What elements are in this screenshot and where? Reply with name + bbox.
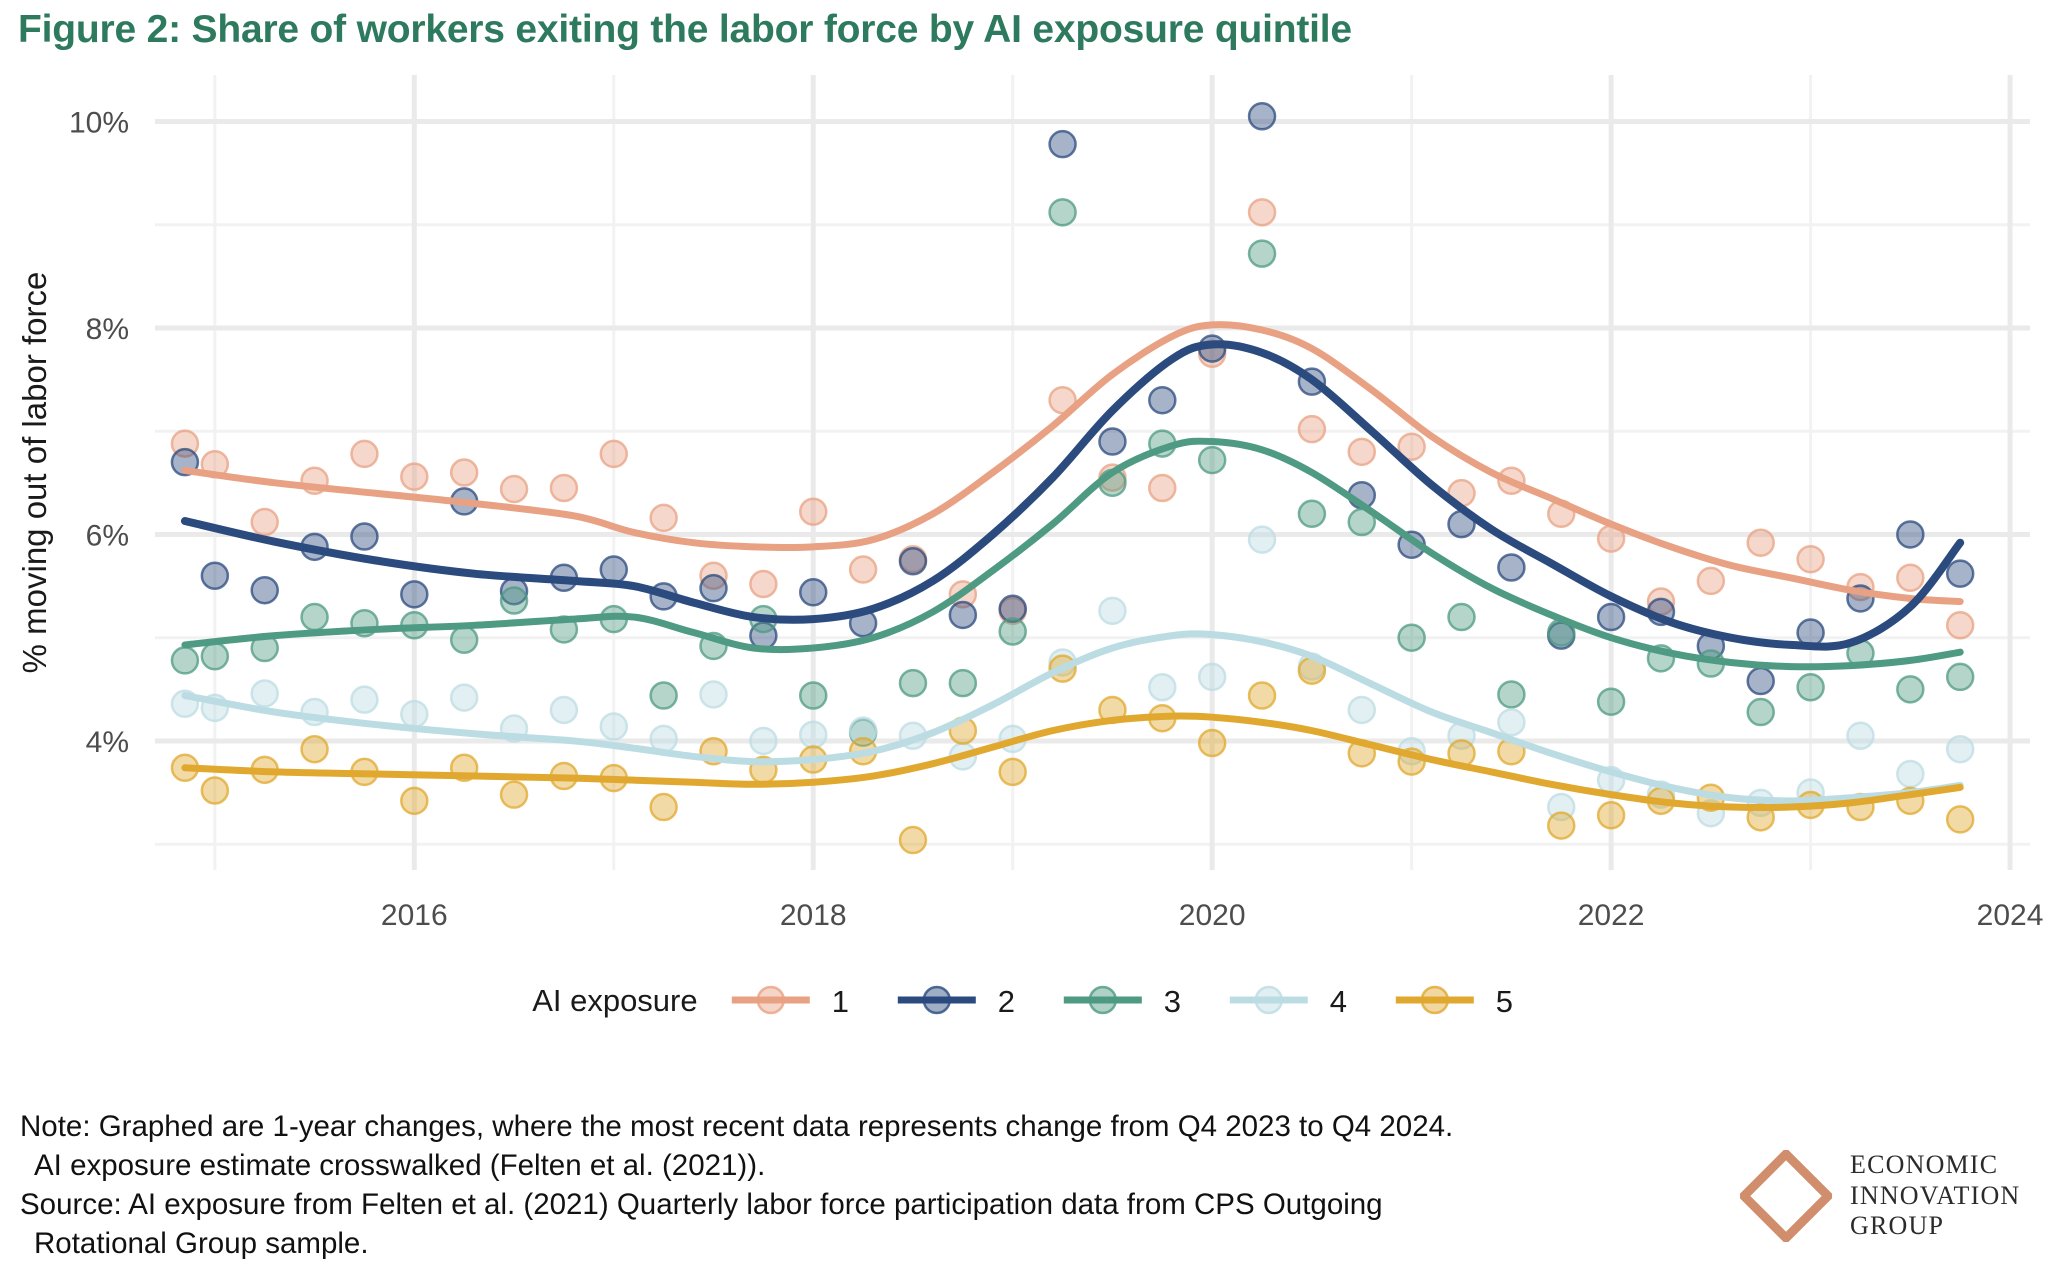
chart-svg: 4%6%8%10%20162018202020222024% moving ou…	[0, 0, 2048, 1100]
data-point	[1249, 103, 1275, 129]
data-point	[1897, 521, 1923, 547]
note-line-2: AI exposure estimate crosswalked (Felten…	[20, 1147, 1660, 1186]
data-point	[1947, 664, 1973, 690]
data-point	[1149, 674, 1175, 700]
data-point	[1249, 199, 1275, 225]
data-point	[401, 701, 427, 727]
x-tick-label: 2020	[1179, 899, 1246, 932]
legend-label: 4	[1330, 984, 1347, 1019]
data-point	[401, 788, 427, 814]
data-point	[950, 602, 976, 628]
eig-logo-text: ECONOMIC INNOVATION GROUP	[1850, 1150, 2020, 1241]
data-point	[551, 475, 577, 501]
data-point	[950, 670, 976, 696]
data-point	[1149, 387, 1175, 413]
data-point	[501, 588, 527, 614]
data-point	[1947, 736, 1973, 762]
data-point	[172, 647, 198, 673]
data-point	[202, 643, 228, 669]
x-tick-label: 2018	[780, 899, 847, 932]
data-point	[1199, 730, 1225, 756]
data-point	[1050, 131, 1076, 157]
legend-layer[interactable]: AI exposure12345	[532, 983, 1513, 1019]
legend-item-5[interactable]: 5	[1396, 984, 1513, 1019]
x-tick-label: 2016	[381, 899, 448, 932]
data-point	[900, 548, 926, 574]
data-point	[651, 683, 677, 709]
data-point	[900, 670, 926, 696]
data-point	[451, 627, 477, 653]
note-line-1: Note: Graphed are 1-year changes, where …	[20, 1108, 1660, 1147]
data-point	[451, 685, 477, 711]
data-point	[1299, 416, 1325, 442]
data-point	[302, 604, 328, 630]
data-point	[1299, 501, 1325, 527]
data-point	[651, 505, 677, 531]
data-point	[1548, 813, 1574, 839]
data-point	[1498, 554, 1524, 580]
data-point	[1947, 612, 1973, 638]
data-point	[401, 581, 427, 607]
legend-label: 3	[1164, 984, 1181, 1019]
data-point	[1349, 439, 1375, 465]
data-point	[1199, 447, 1225, 473]
data-point	[351, 524, 377, 550]
legend-item-2[interactable]: 2	[898, 984, 1015, 1019]
data-point	[651, 794, 677, 820]
data-point	[202, 563, 228, 589]
data-point	[1598, 802, 1624, 828]
legend-point-swatch	[1090, 987, 1116, 1013]
data-point	[1099, 429, 1125, 455]
data-point	[1149, 475, 1175, 501]
data-point	[1249, 241, 1275, 267]
legend-label: 2	[998, 984, 1015, 1019]
data-point	[1897, 676, 1923, 702]
data-point	[701, 575, 727, 601]
data-point	[1498, 709, 1524, 735]
data-point	[601, 557, 627, 583]
data-point	[900, 827, 926, 853]
legend-title: AI exposure	[532, 983, 697, 1018]
data-point	[1598, 689, 1624, 715]
data-point	[1349, 697, 1375, 723]
legend-point-swatch	[1422, 987, 1448, 1013]
eig-diamond-icon	[1740, 1150, 1832, 1242]
data-point	[302, 736, 328, 762]
data-point	[750, 728, 776, 754]
data-point	[551, 697, 577, 723]
data-point	[1698, 568, 1724, 594]
data-point	[1947, 806, 1973, 832]
legend-point-swatch	[758, 987, 784, 1013]
data-point	[1000, 619, 1026, 645]
data-point	[601, 441, 627, 467]
data-point	[1249, 683, 1275, 709]
data-point	[1598, 604, 1624, 630]
legend-item-1[interactable]: 1	[732, 984, 849, 1019]
data-point	[1000, 759, 1026, 785]
legend-item-3[interactable]: 3	[1064, 984, 1181, 1019]
data-point	[750, 571, 776, 597]
data-point	[800, 722, 826, 748]
data-point	[1897, 565, 1923, 591]
data-point	[1798, 546, 1824, 572]
y-tick-label: 4%	[86, 726, 129, 759]
data-point	[1748, 699, 1774, 725]
data-point	[252, 509, 278, 535]
figure-container: Figure 2: Share of workers exiting the l…	[0, 0, 2048, 1280]
data-point	[1748, 668, 1774, 694]
data-point	[601, 713, 627, 739]
data-point	[1449, 604, 1475, 630]
grid-layer	[155, 75, 2030, 870]
y-tick-label: 6%	[86, 519, 129, 552]
data-point	[351, 441, 377, 467]
source-line-2: Rotational Group sample.	[20, 1225, 1660, 1264]
data-point	[351, 687, 377, 713]
data-point	[252, 577, 278, 603]
data-point	[451, 460, 477, 486]
data-point	[1947, 561, 1973, 587]
legend-label: 1	[832, 984, 849, 1019]
data-point	[1399, 625, 1425, 651]
eig-logo-line-3: GROUP	[1850, 1211, 2020, 1241]
y-tick-label: 8%	[86, 313, 129, 346]
data-point	[1199, 664, 1225, 690]
x-tick-label: 2024	[1977, 899, 2044, 932]
data-point	[1099, 598, 1125, 624]
data-point	[850, 557, 876, 583]
data-point	[1847, 723, 1873, 749]
data-point	[1498, 681, 1524, 707]
data-point	[1249, 527, 1275, 553]
data-point	[1798, 674, 1824, 700]
data-point	[501, 782, 527, 808]
data-point	[501, 476, 527, 502]
legend-point-swatch	[1256, 987, 1282, 1013]
data-point	[800, 683, 826, 709]
data-point	[1050, 199, 1076, 225]
eig-logo-line-2: INNOVATION	[1850, 1181, 2020, 1211]
x-tick-label: 2022	[1578, 899, 1645, 932]
y-axis-title: % moving out of labor force	[16, 272, 53, 674]
legend-label: 5	[1496, 984, 1513, 1019]
eig-logo: ECONOMIC INNOVATION GROUP	[1740, 1150, 2020, 1242]
data-point	[701, 681, 727, 707]
data-point	[800, 499, 826, 525]
data-point	[202, 778, 228, 804]
y-tick-label: 10%	[69, 106, 129, 139]
legend-item-4[interactable]: 4	[1230, 984, 1347, 1019]
data-point	[252, 680, 278, 706]
data-point	[800, 579, 826, 605]
source-line-1: Source: AI exposure from Felten et al. (…	[20, 1186, 1660, 1225]
legend-point-swatch	[924, 987, 950, 1013]
figure-notes: Note: Graphed are 1-year changes, where …	[20, 1108, 1660, 1264]
eig-logo-line-1: ECONOMIC	[1850, 1150, 2020, 1180]
data-point	[401, 464, 427, 490]
data-point	[1897, 761, 1923, 787]
data-point	[1748, 530, 1774, 556]
